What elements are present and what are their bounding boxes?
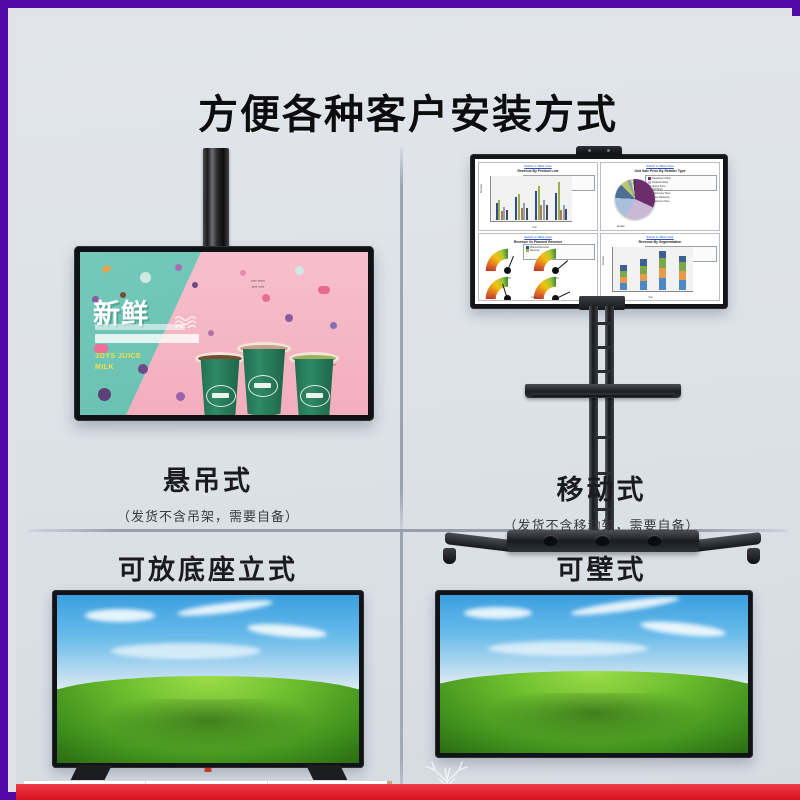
cloud: [111, 643, 261, 659]
bar-group: [555, 177, 567, 220]
label-table-stand: 可放底座立式: [16, 548, 400, 587]
gauge-2010: 2010: [485, 248, 531, 274]
pie-chart: [615, 179, 655, 219]
dashboard-panel-gauge: Switch to Table View Revenue Vs Planned …: [478, 233, 598, 302]
tv-screen-landscape: [440, 595, 748, 753]
cup-logo: [300, 385, 330, 407]
decor-candy: [262, 294, 270, 302]
tv-screen-advertisement: 新鲜 JOYS JUICE MILK ▪▪▪▪ ▪▪▪▪▪▪▪▪▪ ▪▪▪▪ ▪…: [80, 252, 368, 415]
webcam-icon: [576, 146, 622, 155]
cart-rung: [594, 322, 611, 325]
decor-candy: [192, 282, 198, 288]
decor-candy: [98, 388, 111, 401]
tv-stand-leg-right: [306, 765, 348, 781]
label-ceiling-mount: 悬吊式: [16, 459, 400, 498]
ceiling-pole: [203, 148, 229, 254]
panel-xlabel: Year: [532, 227, 537, 229]
cloud: [85, 609, 155, 622]
bar-series: [492, 177, 571, 220]
stacked-series: [614, 248, 692, 291]
gauge-2011: 2011: [533, 248, 579, 274]
decor-candy: [318, 286, 330, 294]
cart-shelf-tray: [525, 384, 681, 398]
cloud: [488, 641, 648, 656]
cart-rung: [594, 436, 611, 439]
tv-wall-mounted: [435, 590, 753, 758]
gauge-2013: 2013: [533, 276, 579, 302]
quadrant-table-stand: 可放底座立式: [16, 532, 400, 800]
cart-rung: [594, 370, 611, 373]
panel-link[interactable]: Switch to Table View: [601, 164, 719, 168]
ad-brand-text: JOYS JUICE MILK: [95, 352, 141, 373]
ad-subtitle-bar-1: [95, 324, 185, 330]
page-frame: 方便各种客户安装方式: [0, 0, 800, 800]
stacked-bar: [679, 256, 686, 290]
panel-ylabel: Revenue: [603, 256, 605, 265]
panel-title: Unit Sale Price By Retailer Type: [601, 169, 719, 173]
panel-link[interactable]: Switch to Table View: [601, 235, 719, 239]
decor-candy: [176, 392, 185, 401]
product-cup-left: [198, 359, 242, 415]
pie-caption: Retailer: [617, 226, 625, 228]
decor-candy: [175, 264, 182, 271]
decor-candy: [295, 266, 304, 275]
dashboard-panel-pie: Switch to Table View Unit Sale Price By …: [600, 162, 720, 231]
tv-screen-landscape: [57, 595, 359, 763]
decor-candy: [330, 322, 337, 329]
panel-xlabel: Year: [648, 297, 653, 299]
cart-mount-plate: [579, 296, 625, 310]
gauge-2012: 2012: [485, 276, 531, 302]
cart-rung: [594, 346, 611, 349]
ad-brand-line-2: MILK: [95, 364, 114, 371]
product-cup-center: [240, 349, 288, 415]
decor-candy: [285, 314, 293, 322]
tv-stand-leg-left: [70, 765, 112, 781]
grass-shadow: [93, 699, 323, 753]
tv-on-stand: [52, 590, 364, 768]
cloud: [464, 607, 532, 619]
panel-plot-area: [490, 176, 572, 222]
bar-group: [515, 177, 527, 220]
caption-ceiling-mount: 悬吊式 （发货不含吊架，需要自备）: [16, 459, 400, 525]
cup-logo: [206, 385, 236, 407]
panel-title: Revenue By Product Line: [479, 169, 597, 173]
quadrant-wall-mount: 可壁式: [403, 532, 800, 800]
grass-shadow: [477, 693, 711, 744]
quadrant-mobile-cart: Switch to Table View Revenue By Product …: [403, 136, 800, 529]
decor-candy: [240, 270, 246, 276]
stacked-bar: [640, 259, 647, 290]
dashboard-panel-bar: Switch to Table View Revenue By Product …: [478, 162, 598, 231]
bar-group: [496, 177, 508, 220]
gauge-grid: 2010 2011 2012: [485, 248, 579, 302]
caption-wall-mount: 可壁式: [403, 548, 800, 587]
label-mobile-cart: 移动式: [403, 468, 800, 507]
tv-screen-dashboard: Switch to Table View Revenue By Product …: [475, 159, 723, 304]
ad-subtitle-bar-2: [95, 334, 199, 343]
decor-candy: [140, 272, 151, 283]
panel-plot-area: [612, 247, 693, 293]
label-wall-mount: 可壁式: [403, 548, 800, 587]
note-ceiling-mount: （发货不含吊架，需要自备）: [16, 506, 400, 525]
tv-cart-mounted: Switch to Table View Revenue By Product …: [470, 154, 728, 309]
panel-link[interactable]: Switch to Table View: [479, 235, 597, 239]
stacked-bar: [659, 251, 666, 290]
tv-ceiling-mounted: 新鲜 JOYS JUICE MILK ▪▪▪▪ ▪▪▪▪▪▪▪▪▪ ▪▪▪▪ ▪…: [74, 246, 374, 421]
page-title: 方便各种客户安装方式: [16, 82, 800, 140]
poster-canvas: 方便各种客户安装方式: [16, 16, 800, 800]
brand-led-icon: [205, 768, 212, 772]
caption-table-stand: 可放底座立式: [16, 548, 400, 587]
panel-link[interactable]: Switch to Table View: [479, 164, 597, 168]
panel-xlabel: Year: [531, 297, 536, 299]
bar-group: [535, 177, 547, 220]
dashboard-grid: Switch to Table View Revenue By Product …: [478, 162, 720, 301]
caption-mobile-cart: 移动式 （发货不含移动架，需要自备）: [403, 468, 800, 534]
decor-candy: [208, 330, 214, 336]
cup-logo: [248, 375, 278, 397]
stacked-bar: [620, 265, 627, 290]
ad-brand-line-1: JOYS JUICE: [95, 353, 141, 360]
panel-title: Revenue By Segmentation: [601, 240, 719, 244]
panel-legend: Department Store Outdoors Shop Sports St…: [645, 175, 717, 191]
panel-ylabel: Revenue: [481, 184, 483, 193]
footer-red-band: [16, 784, 800, 800]
quadrant-ceiling-mount: 新鲜 JOYS JUICE MILK ▪▪▪▪ ▪▪▪▪▪▪▪▪▪ ▪▪▪▪ ▪…: [16, 136, 400, 529]
dashboard-panel-stacked: Switch to Table View Revenue By Segmenta…: [600, 233, 720, 302]
product-cup-right: [292, 359, 336, 415]
ad-note-center: ▪▪▪▪ ▪▪▪▪▪▪▪▪▪ ▪▪▪▪: [230, 278, 286, 289]
